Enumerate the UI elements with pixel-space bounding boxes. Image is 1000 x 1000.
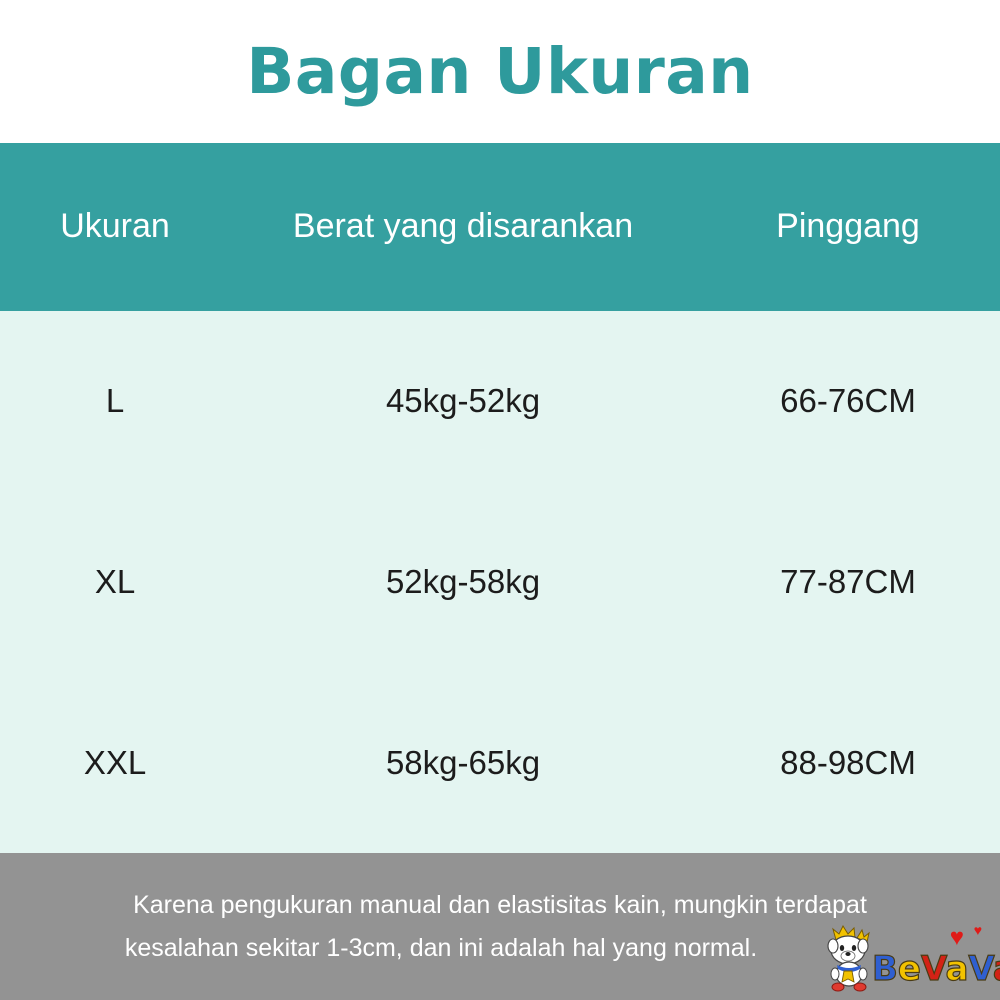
- heart-icon: ♥: [950, 926, 964, 950]
- brand-wordmark: BeVaVar: [872, 952, 1000, 986]
- cell-waist: 77-87CM: [696, 564, 1000, 600]
- cell-size: L: [0, 383, 230, 419]
- size-chart-page: Bagan Ukuran Ukuran Berat yang disaranka…: [0, 0, 1000, 1000]
- logo-letter-a2: a: [993, 949, 1000, 989]
- table-row: XL 52kg-58kg 77-87CM: [0, 492, 1000, 673]
- column-header-waist: Pinggang: [696, 208, 1000, 245]
- disclaimer-line-1: Karena pengukuran manual dan elastisitas…: [133, 884, 867, 927]
- logo-letter-v2: V: [968, 949, 992, 989]
- table-header-row: Ukuran Berat yang disarankan Pinggang: [0, 143, 1000, 311]
- disclaimer-line-2: kesalahan sekitar 1-3cm, dan ini adalah …: [125, 927, 875, 970]
- table-row: L 45kg-52kg 66-76CM: [0, 311, 1000, 492]
- footer-disclaimer: Karena pengukuran manual dan elastisitas…: [0, 853, 1000, 1000]
- cell-waist: 66-76CM: [696, 383, 1000, 419]
- logo-letter-a1: a: [945, 949, 968, 989]
- cell-weight: 52kg-58kg: [230, 564, 696, 600]
- cell-size: XL: [0, 564, 230, 600]
- table-row: XXL 58kg-65kg 88-98CM: [0, 672, 1000, 853]
- title-band: Bagan Ukuran: [0, 0, 1000, 143]
- cell-waist: 88-98CM: [696, 745, 1000, 781]
- table-body: L 45kg-52kg 66-76CM XL 52kg-58kg 77-87CM…: [0, 311, 1000, 853]
- column-header-weight: Berat yang disarankan: [230, 208, 696, 245]
- column-header-size: Ukuran: [0, 208, 230, 245]
- logo-letter-b: B: [872, 949, 898, 989]
- logo-letter-e: e: [898, 949, 921, 989]
- cell-size: XXL: [0, 745, 230, 781]
- heart-icon: ♥: [974, 923, 982, 937]
- brand-logo: ♥ ♥: [824, 922, 994, 994]
- dog-mascot-icon: [824, 924, 876, 992]
- page-title: Bagan Ukuran: [246, 40, 753, 103]
- cell-weight: 45kg-52kg: [230, 383, 696, 419]
- cell-weight: 58kg-65kg: [230, 745, 696, 781]
- logo-letter-v1: V: [921, 949, 945, 989]
